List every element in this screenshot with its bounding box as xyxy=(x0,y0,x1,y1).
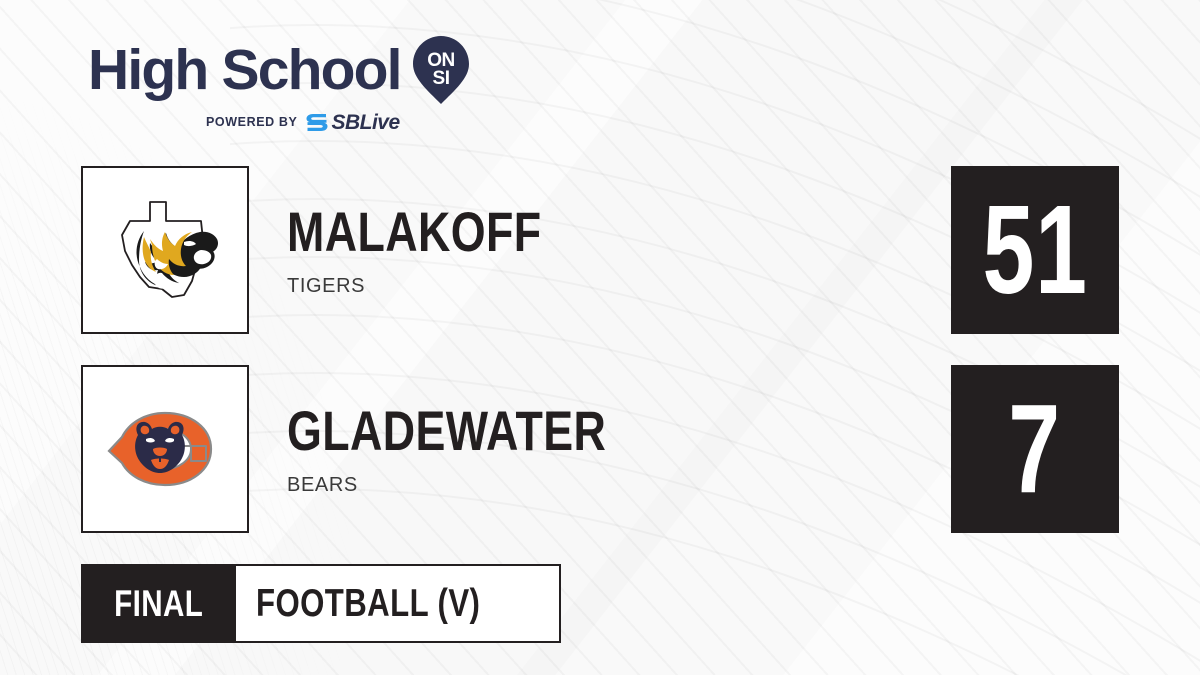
brand-row: High School ON SI xyxy=(88,34,471,106)
sblive-logo: SBLive xyxy=(306,112,399,133)
game-status-label: FINAL xyxy=(114,583,203,625)
sblive-bolt-icon xyxy=(306,113,328,132)
team-logo-box xyxy=(81,365,249,533)
team-row: GLADEWATER BEARS 7 xyxy=(81,365,1119,533)
team-score-box: 51 xyxy=(951,166,1119,334)
team-name: MALAKOFF xyxy=(287,204,818,260)
team-text: GLADEWATER BEARS xyxy=(287,403,951,495)
pin-label-bottom: SI xyxy=(432,68,449,89)
sport-label-panel: FOOTBALL (V) xyxy=(236,564,560,643)
team-name: GLADEWATER xyxy=(287,403,818,459)
team-score: 7 xyxy=(1009,386,1062,512)
scoreboard-graphic: High School ON SI POWERED BY SBLive xyxy=(0,0,1200,675)
bear-head-g-logo-icon xyxy=(100,384,230,514)
brand-wordmark: High School xyxy=(88,42,401,99)
team-mascot: TIGERS xyxy=(287,276,951,296)
brand-header: High School ON SI POWERED BY SBLive xyxy=(88,34,471,133)
sport-label: FOOTBALL (V) xyxy=(256,582,480,626)
team-row: MALAKOFF TIGERS 51 xyxy=(81,166,1119,334)
powered-by-label: POWERED BY xyxy=(206,116,297,129)
status-bar: FINAL FOOTBALL (V) xyxy=(81,564,561,643)
sblive-wordmark: SBLive xyxy=(331,112,399,133)
team-text: MALAKOFF TIGERS xyxy=(287,204,951,296)
on-si-pin-icon: ON SI xyxy=(411,34,471,106)
team-mascot: BEARS xyxy=(287,475,951,495)
tiger-head-texas-logo-icon xyxy=(100,185,230,315)
team-score: 51 xyxy=(982,187,1087,313)
team-score-box: 7 xyxy=(951,365,1119,533)
powered-by-row: POWERED BY SBLive xyxy=(206,112,471,133)
team-logo-box xyxy=(81,166,249,334)
game-status-badge: FINAL xyxy=(81,564,236,643)
